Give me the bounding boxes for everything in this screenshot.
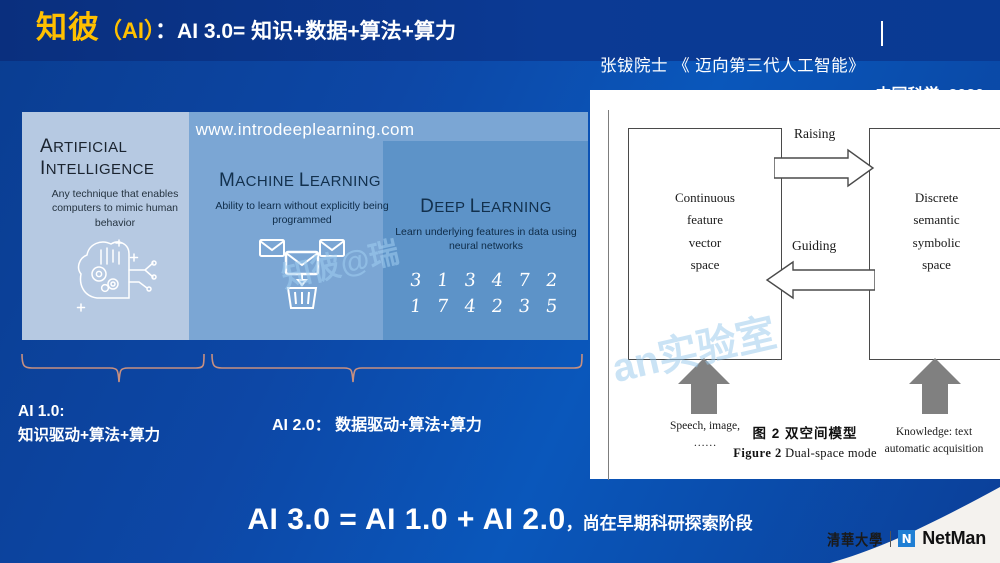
citation-line1: 张钹院士 《 迈向第三代人工智能》 bbox=[600, 52, 992, 76]
slide-root: 知彼（AI）：AI 3.0= 知识+数据+算法+算力 张钹院士 《 迈向第三代人… bbox=[0, 0, 1000, 563]
machine-learning-block: MACHINE LEARNING Ability to learn withou… bbox=[212, 170, 392, 310]
phase-ai10-line2: 知识驱动+算法+算力 bbox=[18, 424, 160, 448]
guiding-label: Guiding bbox=[792, 238, 836, 254]
title-colon: ： bbox=[155, 18, 177, 43]
continuous-space-labels: Continuous feature vector space bbox=[629, 187, 781, 276]
guiding-arrow-icon bbox=[765, 260, 875, 300]
title-paren: （AI） bbox=[100, 18, 155, 43]
handwritten-digits-row2: 1 7 4 2 3 5 bbox=[392, 294, 579, 320]
figure-caption-en: Figure 2 Dual-space mode bbox=[609, 446, 1000, 461]
dual-space-figure-panel: Continuous feature vector space Discrete… bbox=[590, 90, 1000, 479]
raising-label: Raising bbox=[794, 126, 835, 142]
raising-arrow-icon bbox=[774, 148, 876, 188]
phase-ai10-line1: AI 1.0: bbox=[18, 400, 160, 424]
statement-note: ，尚在早期科研探索阶段 bbox=[566, 514, 753, 533]
ml-heading: MACHINE LEARNING bbox=[208, 170, 392, 192]
title-rest: AI 3.0= 知识+数据+算法+算力 bbox=[177, 20, 456, 43]
figure-caption-cn: 图 2 双空间模型 bbox=[609, 422, 1000, 442]
phase-ai20-label: AI 2.0： 数据驱动+算法+算力 bbox=[272, 411, 482, 435]
footer-logos: 清華大學 N NetMan bbox=[827, 528, 986, 549]
discrete-space-box: Discrete semantic symbolic space bbox=[869, 128, 1000, 360]
input-up-arrow-left-icon bbox=[676, 356, 732, 416]
discrete-space-labels: Discrete semantic symbolic space bbox=[870, 187, 1000, 276]
artificial-intelligence-block: ARTIFICIAL INTELLIGENCE Any technique th… bbox=[40, 136, 190, 312]
statement-formula: AI 3.0 = AI 1.0 + AI 2.0 bbox=[247, 503, 565, 536]
ai-heading-line1: ARTIFICIAL bbox=[40, 136, 190, 158]
title-main: 知彼 bbox=[36, 10, 100, 45]
brain-circuit-icon bbox=[40, 230, 190, 312]
ai-body-text: Any technique that enables computers to … bbox=[40, 187, 190, 230]
netman-logo-mark: N bbox=[898, 530, 915, 547]
continuous-space-box: Continuous feature vector space bbox=[628, 128, 782, 360]
tsinghua-logo: 清華大學 bbox=[827, 528, 883, 550]
figure-caption: 图 2 双空间模型 Figure 2 Dual-space mode bbox=[609, 422, 1000, 461]
phase-braces bbox=[14, 352, 594, 394]
dl-heading: DEEP LEARNING bbox=[394, 196, 578, 218]
input-up-arrow-right-icon bbox=[907, 356, 963, 416]
dl-body-text: Learn underlying features in data using … bbox=[394, 225, 578, 254]
email-filter-icon bbox=[212, 234, 392, 310]
ml-body-text: Ability to learn without explicitly bein… bbox=[212, 199, 392, 228]
figure-frame: Continuous feature vector space Discrete… bbox=[608, 110, 983, 480]
phase-ai10-label: AI 1.0: 知识驱动+算法+算力 bbox=[18, 400, 160, 448]
ai-ml-dl-infographic: www.introdeeplearning.com ARTIFICIAL INT… bbox=[22, 112, 588, 340]
deep-learning-block: DEEP LEARNING Learn underlying features … bbox=[394, 196, 578, 320]
handwritten-digits-row1: 3 1 3 4 7 2 bbox=[392, 268, 579, 294]
logo-divider bbox=[890, 531, 891, 547]
netman-logo-text: NetMan bbox=[922, 528, 986, 549]
page-title: 知彼（AI）：AI 3.0= 知识+数据+算法+算力 bbox=[36, 12, 456, 43]
ai-heading-line2: INTELLIGENCE bbox=[40, 158, 190, 180]
header-tick-mark bbox=[881, 21, 883, 46]
